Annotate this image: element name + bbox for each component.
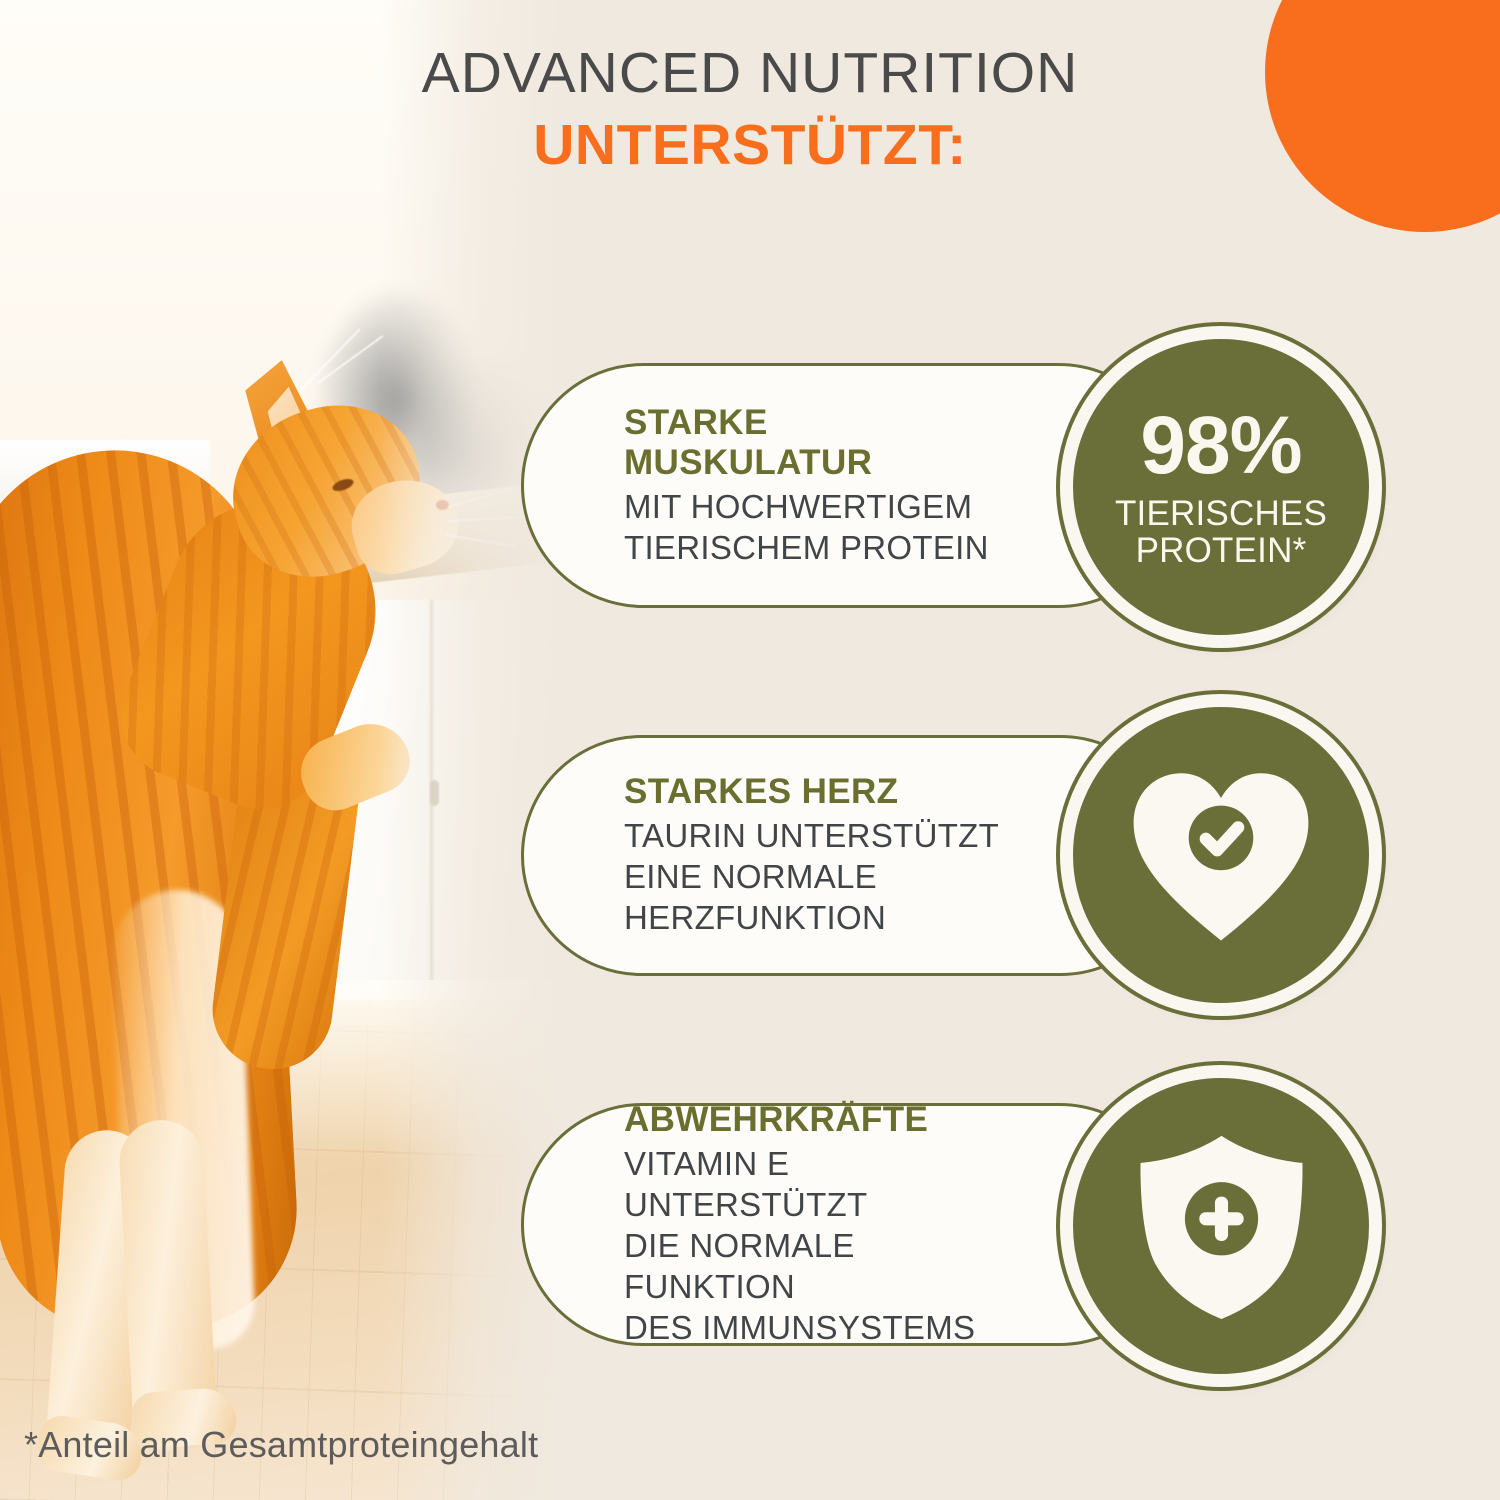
heart-badge	[1073, 707, 1369, 1003]
benefit-body: TAURIN UNTERSTÜTZT EINE NORMALE HERZFUNK…	[624, 816, 1028, 939]
benefit-title-line: STARKES HERZ	[624, 772, 1028, 813]
page-title-line2: UNTERSTÜTZT:	[190, 112, 1310, 178]
benefit-body-line: VITAMIN E UNTERSTÜTZT	[624, 1144, 1028, 1226]
benefit-card-text: STARKES HERZ TAURIN UNTERSTÜTZT EINE NOR…	[624, 738, 1028, 973]
benefit-body-line: DIE NORMALE FUNKTION	[624, 1226, 1028, 1308]
benefit-body-line: HERZFUNKTION	[624, 898, 1028, 939]
benefit-body: VITAMIN E UNTERSTÜTZT DIE NORMALE FUNKTI…	[624, 1144, 1028, 1349]
benefit-body-line: EINE NORMALE	[624, 857, 1028, 898]
protein-percent-badge: 98% TIERISCHES PROTEIN*	[1073, 339, 1369, 635]
benefit-body-line: DES IMMUNSYSTEMS	[624, 1308, 1028, 1349]
benefit-card-text: ABWEHRKRÄFTE VITAMIN E UNTERSTÜTZT DIE N…	[624, 1106, 1028, 1343]
badge-label: TIERISCHES PROTEIN*	[1115, 495, 1327, 569]
badge-label-line: TIERISCHES	[1115, 495, 1327, 532]
benefit-title: STARKE MUSKULATUR	[624, 403, 1028, 484]
benefit-title-line: ABWEHRKRÄFTE	[624, 1100, 1028, 1141]
cat-kitchen-photo	[0, 0, 560, 1500]
benefit-body: MIT HOCHWERTIGEM TIERISCHEM PROTEIN	[624, 487, 1028, 569]
benefit-body-line: TAURIN UNTERSTÜTZT	[624, 816, 1028, 857]
badge-content: 98% TIERISCHES PROTEIN*	[1115, 405, 1327, 569]
badge-label-line: PROTEIN*	[1115, 532, 1327, 569]
benefit-body-line: MIT HOCHWERTIGEM	[624, 487, 1028, 528]
header: ADVANCED NUTRITION UNTERSTÜTZT:	[190, 40, 1310, 178]
shield-badge	[1073, 1078, 1369, 1374]
benefit-title-line: MUSKULATUR	[624, 443, 1028, 484]
benefit-title-line: STARKE	[624, 403, 1028, 444]
page-title-line1: ADVANCED NUTRITION	[190, 40, 1310, 106]
infographic-root: ADVANCED NUTRITION UNTERSTÜTZT: STARKE M…	[0, 0, 1500, 1500]
benefit-body-line: TIERISCHEM PROTEIN	[624, 528, 1028, 569]
heart-check-icon	[1126, 765, 1316, 945]
shield-plus-icon	[1129, 1129, 1314, 1324]
benefit-title: STARKES HERZ	[624, 772, 1028, 813]
footnote: *Anteil am Gesamtproteingehalt	[24, 1424, 538, 1466]
benefit-card-text: STARKE MUSKULATUR MIT HOCHWERTIGEM TIERI…	[624, 366, 1028, 605]
badge-percent-value: 98%	[1115, 405, 1327, 487]
benefit-title: ABWEHRKRÄFTE	[624, 1100, 1028, 1141]
